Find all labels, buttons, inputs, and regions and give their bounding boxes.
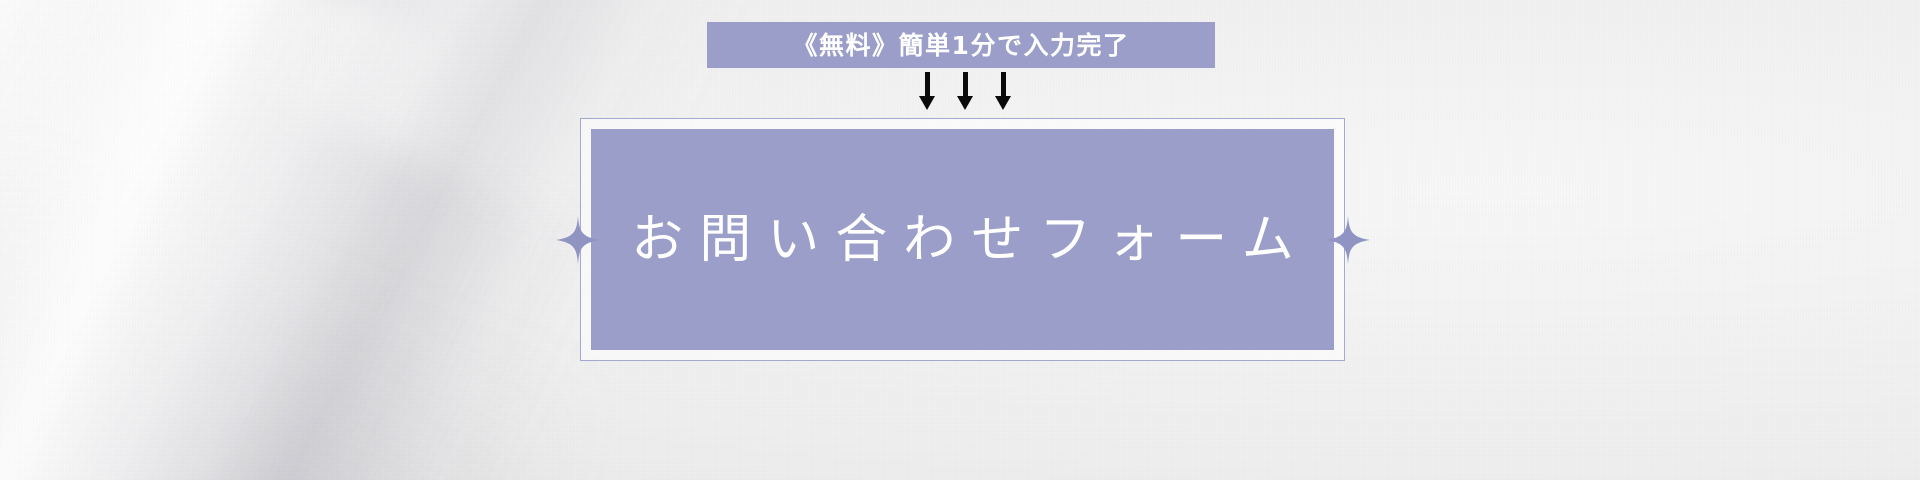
contact-form-button[interactable]: お問い合わせフォーム [591, 129, 1334, 350]
arrow-head [957, 96, 973, 110]
free-offer-badge-label: 《無料》簡単1分で入力完了 [793, 33, 1130, 58]
arrow-head [919, 96, 935, 110]
arrow-group [905, 72, 1025, 110]
contact-form-button-label: お問い合わせフォーム [615, 214, 1309, 266]
arrow-down-icon [993, 72, 1015, 110]
arrow-shaft [925, 72, 930, 98]
contact-form-button-frame[interactable]: お問い合わせフォーム [580, 118, 1345, 361]
contact-form-cta-banner: 《無料》簡単1分で入力完了 お問い合わせフォーム [0, 0, 1920, 480]
arrow-down-icon [955, 72, 977, 110]
free-offer-badge: 《無料》簡単1分で入力完了 [707, 22, 1215, 68]
arrow-shaft [1001, 72, 1006, 98]
arrow-shaft [963, 72, 968, 98]
arrow-down-icon [917, 72, 939, 110]
arrow-head [995, 96, 1011, 110]
